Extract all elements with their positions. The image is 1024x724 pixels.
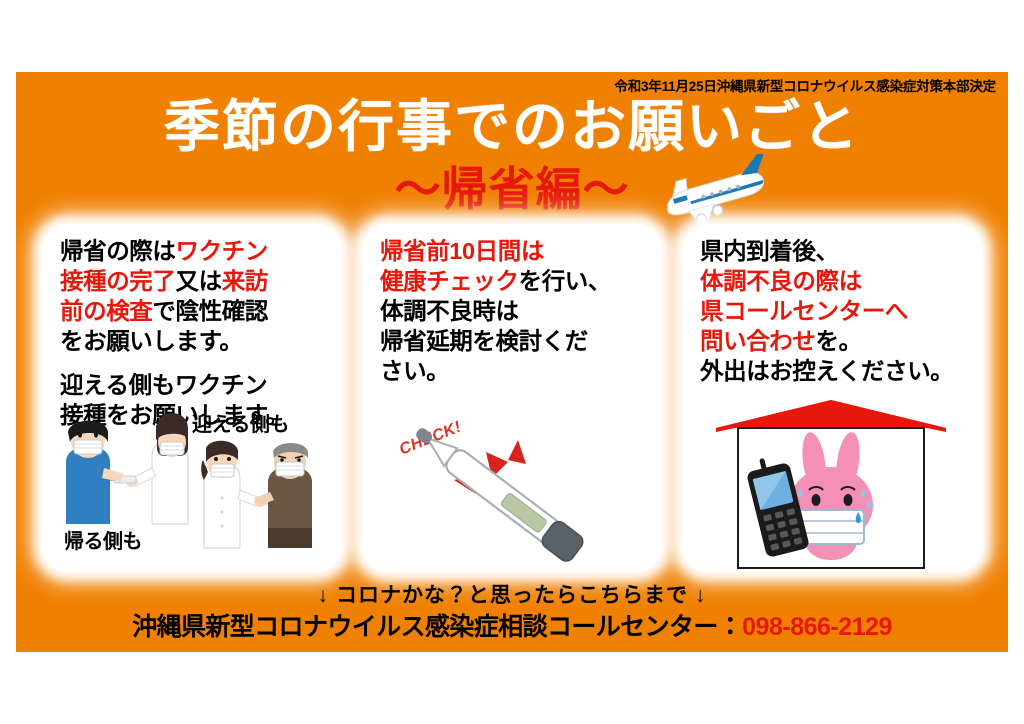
card1-line3: 前の検査で陰性確認	[60, 296, 332, 326]
cards-row: 帰省の際はワクチン 接種の完了又は来訪 前の検査で陰性確認 をお願いします。 迎…	[42, 224, 982, 572]
card3-line5: 外出はお控えください。	[700, 356, 972, 386]
card1-l2-c: 来訪	[222, 268, 268, 294]
footer: ↓ コロナかな？と思ったらこちらまで ↓ 沖縄県新型コロナウイルス感染症相談コー…	[16, 582, 1008, 644]
card-call-center-text: 県内到着後、 体調不良の際は 県コールセンターへ 問い合わせを。 外出はお控えく…	[700, 236, 972, 386]
card1-l2-b: 又は	[176, 268, 222, 294]
airplane-icon	[650, 154, 774, 226]
footer-phone-number[interactable]: 098-866-2129	[742, 613, 892, 641]
card1-line5: 迎える側もワクチン	[60, 370, 332, 400]
card1-l3-b: で陰性確認	[152, 298, 268, 324]
subtitle-row: ～帰省編～	[16, 160, 1008, 222]
card1-l1-b: ワクチン	[176, 238, 268, 264]
card-health-check: 帰省前10日間は 健康チェックを行い、 体調不良時は 帰省延期を検討くだ さい。…	[362, 224, 662, 572]
thermometer-illustration: CHECK!	[362, 412, 662, 572]
rabbit-at-home-illustration	[682, 400, 982, 572]
card3-line3: 県コールセンターへ	[700, 296, 972, 326]
card3-line1: 県内到着後、	[700, 236, 972, 266]
card1-l1-a: 帰省の際は	[60, 238, 176, 264]
card2-line2: 健康チェックを行い、	[380, 266, 652, 296]
vaccination-illustration: 帰る側も 迎える側も	[42, 410, 342, 572]
decision-note: 令和3年11月25日沖縄県新型コロナウイルス感染症対策本部決定	[614, 75, 996, 95]
vaccination-scene-returning	[56, 412, 206, 530]
thermometer-icon	[392, 412, 622, 572]
card-vaccination-text: 帰省の際はワクチン 接種の完了又は来訪 前の検査で陰性確認 をお願いします。 迎…	[60, 236, 332, 430]
footer-contact: 沖縄県新型コロナウイルス感染症相談コールセンター：098-866-2129	[16, 610, 1008, 644]
footer-prompt: ↓ コロナかな？と思ったらこちらまで ↓	[16, 582, 1008, 610]
caption-returning-side: 帰る側も	[64, 525, 142, 554]
card2-line5: さい。	[380, 356, 652, 386]
card1-line2: 接種の完了又は来訪	[60, 266, 332, 296]
card-health-check-text: 帰省前10日間は 健康チェックを行い、 体調不良時は 帰省延期を検討くだ さい。	[380, 236, 652, 386]
caption-welcoming-side: 迎える側も	[192, 408, 289, 437]
card3-line4: 問い合わせを。	[700, 326, 972, 356]
card3-l4-a: 問い合わせ	[700, 328, 816, 354]
card1-l3-a: 前の検査	[60, 298, 152, 324]
page-title: 季節の行事でのお願いごと	[16, 96, 1008, 158]
card2-line4: 帰省延期を検討くだ	[380, 326, 652, 356]
title-block: 季節の行事でのお願いごと ～帰省編～	[16, 96, 1008, 222]
card3-l4-b: を。	[816, 328, 862, 354]
card3-line2: 体調不良の際は	[700, 266, 972, 296]
card1-l2-a: 接種の完了	[60, 268, 176, 294]
card2-l2-b: を行い、	[519, 268, 611, 294]
house-with-rabbit-icon	[706, 400, 956, 572]
card-call-center: 県内到着後、 体調不良の際は 県コールセンターへ 問い合わせを。 外出はお控えく…	[682, 224, 982, 572]
card2-l2-a: 健康チェック	[380, 268, 519, 294]
vaccination-scene-welcoming	[190, 436, 326, 554]
card2-line1: 帰省前10日間は	[380, 236, 652, 266]
card2-line3: 体調不良時は	[380, 296, 652, 326]
page-subtitle: ～帰省編～	[395, 163, 630, 215]
footer-contact-label: 沖縄県新型コロナウイルス感染症相談コールセンター：	[132, 613, 742, 641]
poster-panel: 令和3年11月25日沖縄県新型コロナウイルス感染症対策本部決定 季節の行事でのお…	[16, 72, 1008, 652]
card1-line1: 帰省の際はワクチン	[60, 236, 332, 266]
card-vaccination: 帰省の際はワクチン 接種の完了又は来訪 前の検査で陰性確認 をお願いします。 迎…	[42, 224, 342, 572]
card1-line4: をお願いします。	[60, 326, 332, 356]
